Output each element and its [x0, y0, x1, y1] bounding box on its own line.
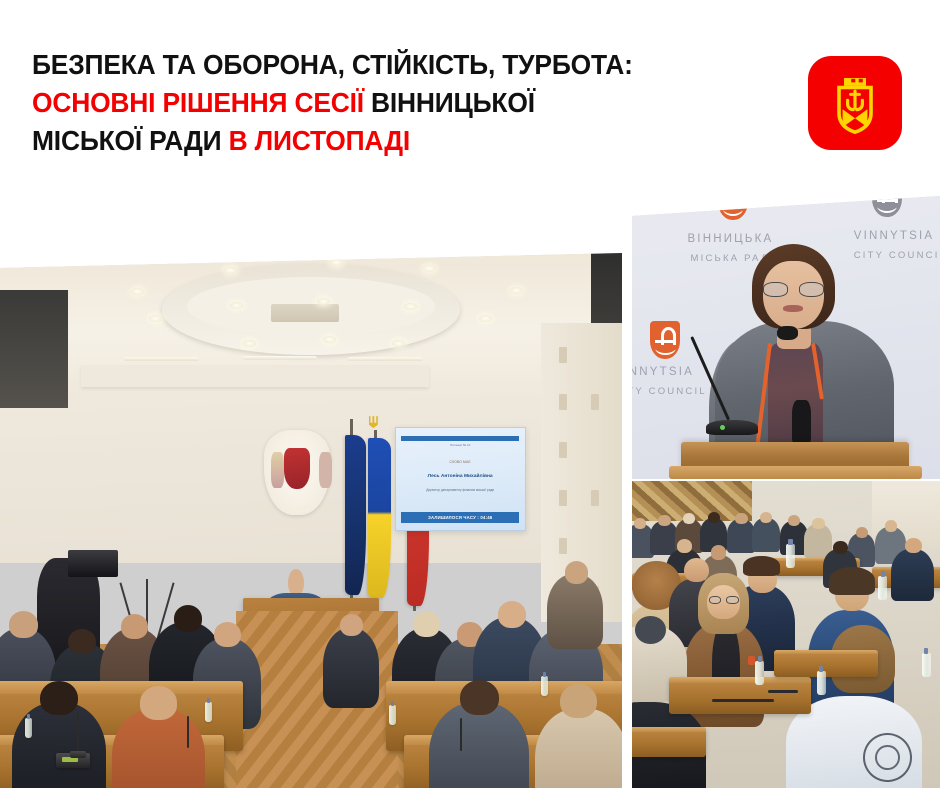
lapel-badge [748, 656, 755, 665]
title-line-3: МІСЬКОЇ РАДИ В ЛИСТОПАДІ [32, 122, 742, 160]
video-camera [68, 550, 118, 577]
presentation-screen: Питання № 10 СЛОВО МАЄ Лесь Антоніна Мих… [395, 427, 526, 531]
screen-timer: ЗАЛИШИЛОСЯ ЧАСУ : 04:46 [401, 512, 519, 523]
title-line-2-rest: ВІННИЦЬКОЇ [371, 87, 535, 118]
title-line-2-highlight: ОСНОВНІ РІШЕННЯ СЕСІЇ [32, 87, 364, 118]
podium-microphone-base [706, 420, 758, 436]
title-line-2: ОСНОВНІ РІШЕННЯ СЕСІЇ ВІННИЦЬКОЇ [32, 84, 742, 122]
audience-eyeglasses [709, 596, 739, 604]
backdrop-text-uk-line1: ВІННИЦЬКА [687, 233, 773, 245]
podium-microphone-head [777, 326, 799, 340]
photo-session-audience [632, 481, 940, 788]
title-line-1-text: БЕЗПЕКА ТА ОБОРОНА, СТІЙКІСТЬ, ТУРБОТА: [32, 49, 633, 80]
screen-speaking-label: СЛОВО МАЄ [403, 460, 517, 464]
title-line-3-lead: МІСЬКОЇ РАДИ [32, 125, 221, 156]
screen-timer-value: 04:46 [480, 515, 492, 520]
title-line-3-highlight: В ЛИСТОПАДІ [229, 125, 410, 156]
eyeglasses [763, 282, 825, 297]
title-line-1: БЕЗПЕКА ТА ОБОРОНА, СТІЙКІСТЬ, ТУРБОТА: [32, 46, 742, 84]
photo-speaker-at-podium: ВІННИЦЬКА МІСЬКА РАДА VINNYTSIA CITY COU… [632, 196, 940, 479]
backdrop-crest-mid-left [650, 321, 680, 359]
backdrop-text-en-line1-lower: VINNYTSIA [632, 366, 694, 378]
page-title: БЕЗПЕКА ТА ОБОРОНА, СТІЙКІСТЬ, ТУРБОТА: … [32, 46, 772, 160]
vinnytsia-coat-of-arms-logo [808, 56, 902, 150]
screen-speaker-role: Директор департаменту фінансів міської р… [403, 488, 517, 492]
backdrop-text-en-line2-lower: CITY COUNCIL [632, 386, 707, 397]
wall-coat-of-arms [264, 430, 329, 516]
screen-question-label: Питання № 10 [403, 443, 517, 447]
photo-council-session-hall: Питання № 10 СЛОВО МАЄ Лесь Антоніна Мих… [0, 253, 622, 788]
screen-timer-label: ЗАЛИШИЛОСЯ ЧАСУ : [428, 515, 479, 520]
screen-speaker-name: Лесь Антоніна Михайлівна [403, 473, 517, 479]
backdrop-text-en-line2: CITY COUNCIL [854, 250, 940, 261]
backdrop-text-en-line1: VINNYTSIA [854, 230, 935, 242]
header-banner: БЕЗПЕКА ТА ОБОРОНА, СТІЙКІСТЬ, ТУРБОТА: … [0, 0, 940, 190]
photo-mosaic: Питання № 10 СЛОВО МАЄ Лесь Антоніна Мих… [0, 190, 940, 788]
delegate-microphone [712, 699, 774, 702]
